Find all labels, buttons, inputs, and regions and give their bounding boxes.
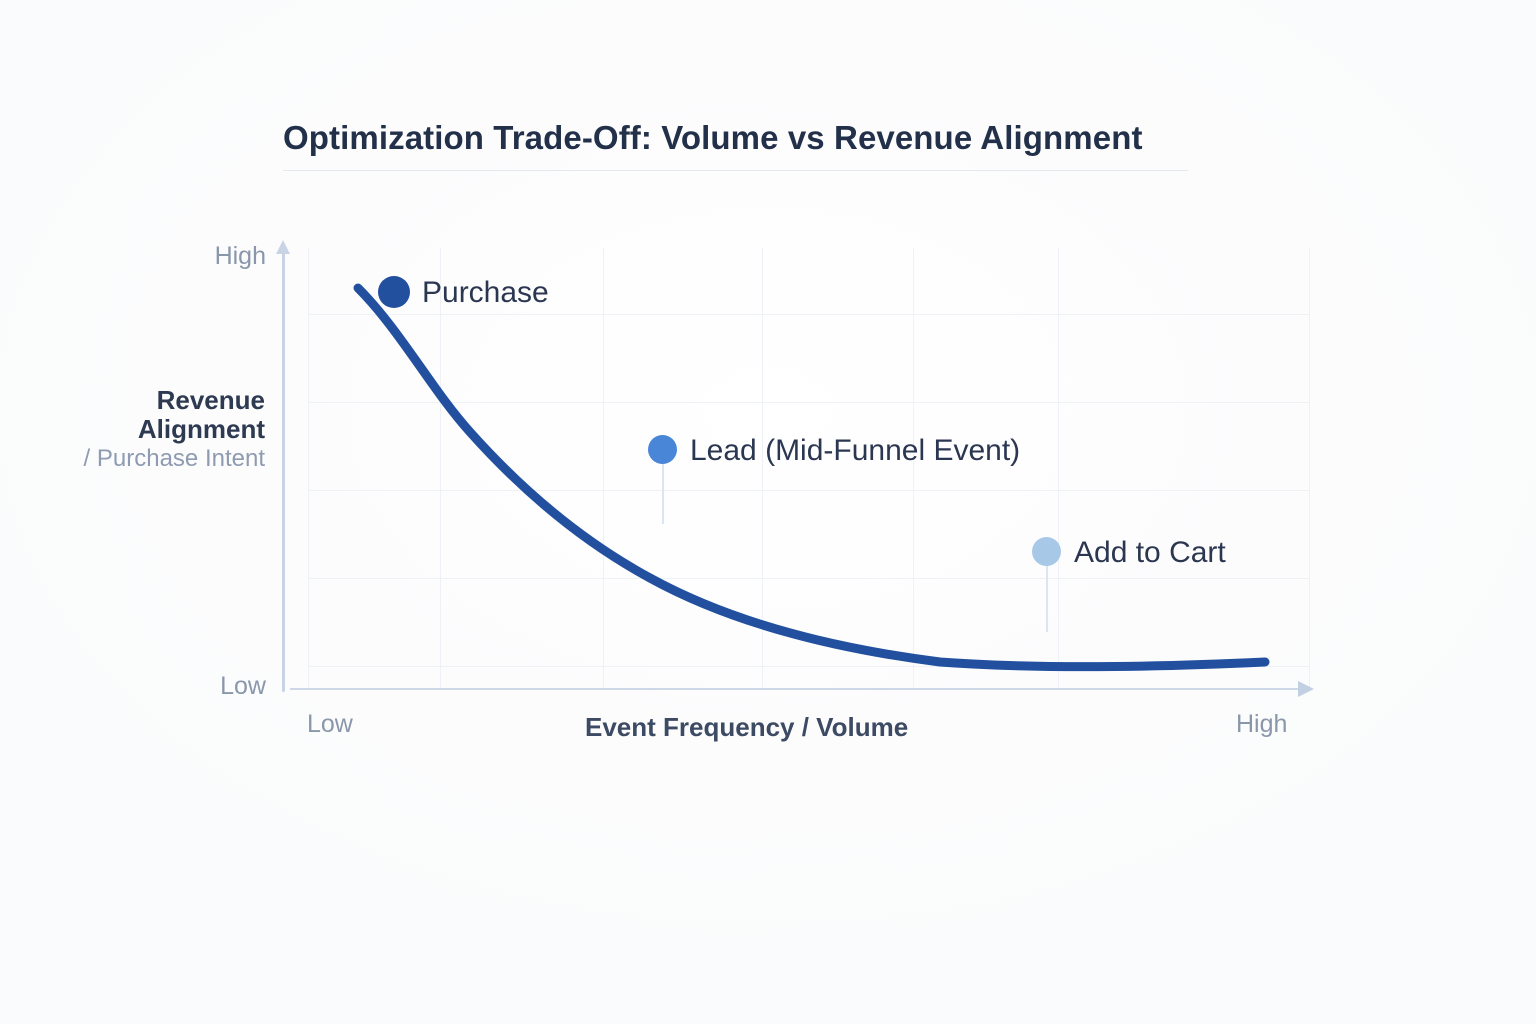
- data-point-stem-lead: [662, 462, 664, 524]
- gridline-horizontal: [308, 314, 1310, 315]
- gridline-vertical: [762, 248, 763, 690]
- y-axis-tick-low: Low: [220, 672, 266, 701]
- gridline-vertical: [1309, 248, 1310, 690]
- plot-area: [308, 248, 1310, 690]
- y-axis-tick-high: High: [215, 242, 266, 271]
- x-axis-title: Event Frequency / Volume: [585, 712, 908, 743]
- data-point-label-purchase: Purchase: [422, 276, 549, 310]
- data-point-lead[interactable]: [648, 435, 677, 464]
- gridline-horizontal: [308, 578, 1310, 579]
- chart-canvas: Optimization Trade-Off: Volume vs Revenu…: [0, 0, 1536, 1024]
- gridline-horizontal: [308, 490, 1310, 491]
- gridline-vertical: [913, 248, 914, 690]
- y-axis-title-primary: Revenue Alignment: [80, 386, 265, 444]
- x-axis-tick-low: Low: [307, 710, 353, 739]
- page-title: Optimization Trade-Off: Volume vs Revenu…: [283, 118, 1188, 158]
- x-axis-line: [290, 688, 1300, 690]
- gridline-horizontal: [308, 402, 1310, 403]
- gridline-horizontal: [308, 666, 1310, 667]
- data-point-add-to-cart[interactable]: [1032, 537, 1061, 566]
- y-axis-title-secondary: / Purchase Intent: [80, 446, 265, 473]
- gridline-vertical: [440, 248, 441, 690]
- y-axis-arrow-icon: [276, 240, 290, 254]
- data-point-purchase[interactable]: [378, 276, 410, 308]
- gridline-vertical: [603, 248, 604, 690]
- x-axis-arrow-icon: [1298, 681, 1314, 697]
- gridline-vertical: [308, 248, 309, 690]
- y-axis-line: [282, 252, 285, 692]
- y-axis-title: Revenue Alignment / Purchase Intent: [80, 386, 265, 473]
- data-point-stem-add-to-cart: [1046, 564, 1048, 632]
- title-block: Optimization Trade-Off: Volume vs Revenu…: [283, 118, 1188, 171]
- x-axis-tick-high: High: [1236, 710, 1287, 739]
- data-point-label-add-to-cart: Add to Cart: [1074, 536, 1226, 570]
- data-point-label-lead: Lead (Mid-Funnel Event): [690, 434, 1020, 468]
- gridline-vertical: [1058, 248, 1059, 690]
- title-divider: [283, 170, 1188, 171]
